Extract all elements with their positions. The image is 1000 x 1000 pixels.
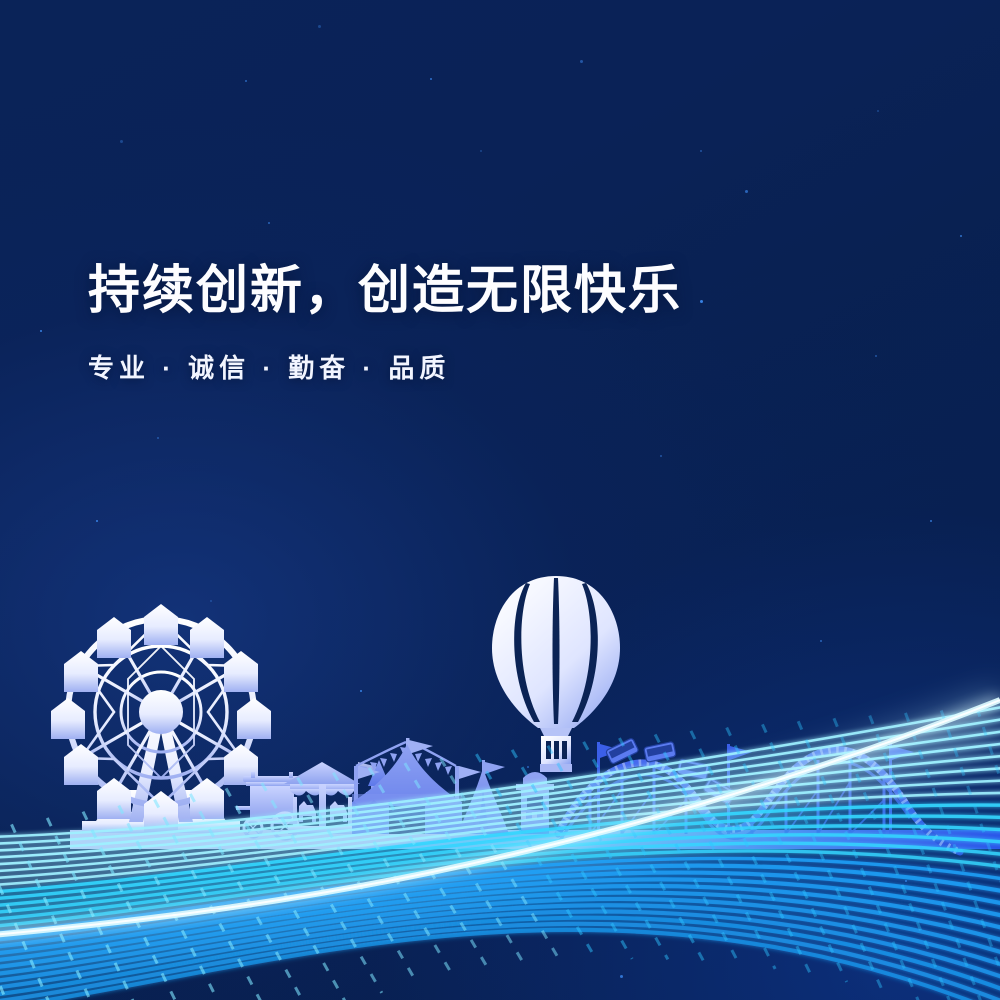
ferris-wheel [51,604,271,833]
page-title: 持续创新，创造无限快乐 [88,262,682,322]
hot-air-balloon [492,576,620,772]
scene-illustration [0,0,1000,1000]
hero-text-block: 持续创新，创造无限快乐 专业 · 诚信 · 勤奋 · 品质 [88,262,682,385]
poster-canvas: 持续创新，创造无限快乐 专业 · 诚信 · 勤奋 · 品质 [0,0,1000,1000]
page-subtitle: 专业 · 诚信 · 勤奋 · 品质 [88,348,682,385]
